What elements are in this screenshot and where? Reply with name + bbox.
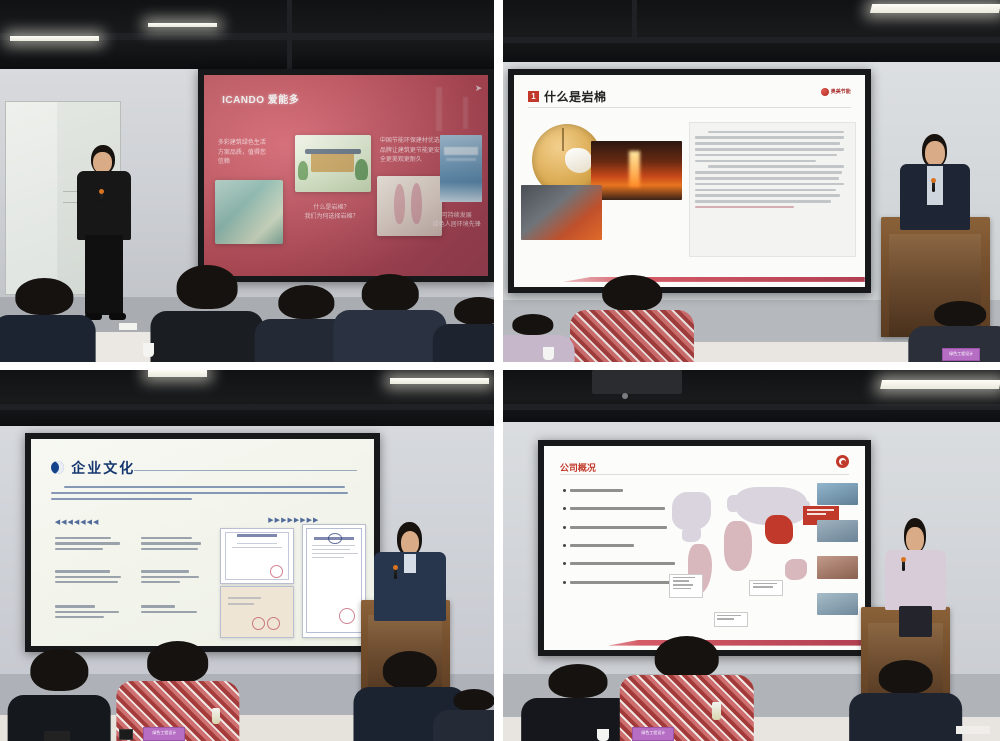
bullet-dot-icon <box>563 544 566 547</box>
audience-member <box>851 660 960 741</box>
bullet-text <box>570 489 623 492</box>
culture-column-1 <box>55 534 124 553</box>
certificate-3 <box>302 524 366 638</box>
ceiling <box>0 0 494 69</box>
paper-sheet[interactable] <box>956 726 990 734</box>
slide-intro-paragraph <box>51 483 357 504</box>
audience-member <box>435 689 494 741</box>
slide-text-block: 多彩建筑绿色生活方案品质，值得您信赖 <box>218 139 281 167</box>
audience-member <box>523 667 632 741</box>
speaker-blouse <box>885 550 946 610</box>
culture-column-4 <box>141 534 206 553</box>
slide-title-row: 企业文化 <box>51 458 135 478</box>
bullet-dot-icon <box>563 526 566 529</box>
bullet-text <box>570 507 665 510</box>
title-divider <box>134 470 357 471</box>
brand-dot-icon <box>821 88 829 96</box>
speaker-face <box>93 152 112 173</box>
slide-image-bluebook <box>440 135 483 202</box>
slide-heading: 什么是岩棉 <box>544 88 607 105</box>
slide-image-wool <box>377 176 442 236</box>
thumbnail-1 <box>817 483 859 505</box>
map-central-america <box>682 527 701 542</box>
decor-tower <box>463 97 468 129</box>
ceiling-light <box>880 380 1000 389</box>
slide-text-block: 可持续发展绿色人居环境先锋 <box>431 212 482 231</box>
projection-screen[interactable]: 公司概况 <box>544 446 865 649</box>
ceiling-beam <box>0 404 494 410</box>
ceiling <box>503 0 1000 62</box>
paper-cup[interactable] <box>143 343 154 357</box>
collage-panel-top-right[interactable]: 1 什么是岩棉 奥美节能 <box>503 0 1000 362</box>
collage-panel-bottom-left[interactable]: 企业文化 ◀◀◀◀◀◀◀ ▶▶▶▶▶▶▶▶ <box>0 370 494 741</box>
bullet-text <box>570 562 675 565</box>
slide-title-row: 1 什么是岩棉 <box>528 88 607 105</box>
projector <box>592 370 681 394</box>
map-callout-americas <box>669 574 703 598</box>
map-callout-africa <box>749 580 783 597</box>
bullet-4 <box>563 544 666 547</box>
brand-name: 奥美节能 <box>831 88 851 95</box>
slide-heading: 公司概况 <box>560 461 596 474</box>
figure-lava-pour <box>521 185 602 240</box>
bullet-1 <box>563 489 666 492</box>
thumbnail-3 <box>817 556 859 578</box>
bullet-dot-icon <box>563 507 566 510</box>
ceiling-beam <box>503 404 1000 410</box>
audience-member <box>0 281 94 362</box>
table-nameplate: 绿色工程设计 <box>632 727 674 741</box>
slide-what-is-rockwool: 1 什么是岩棉 奥美节能 <box>514 75 865 287</box>
certificate-1 <box>220 528 294 584</box>
bullet-3 <box>563 526 679 529</box>
projection-screen-frame[interactable]: 企业文化 ◀◀◀◀◀◀◀ ▶▶▶▶▶▶▶▶ <box>25 433 381 652</box>
bullet-2 <box>563 507 679 510</box>
slide-image-building <box>295 135 372 191</box>
paper-cup[interactable] <box>543 347 554 360</box>
device[interactable] <box>119 729 133 740</box>
culture-column-3 <box>55 602 124 621</box>
audience-member <box>336 276 445 362</box>
ceiling-light <box>148 370 207 377</box>
audience-member <box>622 634 751 741</box>
microphone-icon <box>932 181 935 192</box>
ceiling <box>503 370 1000 422</box>
icando-logo: ICANDO 爱能多 <box>222 91 299 106</box>
ceiling <box>0 370 494 426</box>
collage-panel-bottom-right[interactable]: 公司概况 <box>503 370 1000 741</box>
nameplate-text: 绿色工程设计 <box>144 728 184 737</box>
audience-area: 绿色工程设计 <box>503 261 1000 362</box>
microphone-icon <box>394 568 397 579</box>
slide-heading: 企业文化 <box>71 458 135 478</box>
ceiling-beam <box>287 0 292 69</box>
speaker-torso <box>77 171 131 241</box>
map-africa <box>724 521 753 571</box>
projection-screen[interactable]: 企业文化 ◀◀◀◀◀◀◀ ▶▶▶▶▶▶▶▶ <box>31 439 375 646</box>
audience-member <box>10 656 109 741</box>
chevrons-left: ◀◀◀◀◀◀◀ <box>55 518 100 526</box>
culture-column-6 <box>141 602 206 615</box>
brand-logo: 奥美节能 <box>821 88 851 96</box>
decor-tower <box>436 87 442 131</box>
half-moon-icon <box>51 461 64 474</box>
bullet-dot-icon <box>563 581 566 584</box>
collage-panel-top-left[interactable]: ICANDO 爱能多 多彩建筑绿色生活方案品质，值得您信赖 什么是岩棉？我们为何… <box>0 0 494 362</box>
map-north-america <box>672 492 711 530</box>
ceiling-light <box>870 4 1000 13</box>
speaker-shirt <box>927 166 943 206</box>
table-nameplate: 绿色工程设计 <box>143 727 185 741</box>
title-divider <box>528 107 851 108</box>
audience-area: 绿色工程设计 <box>503 622 1000 741</box>
table-nameplate: 绿色工程设计 <box>942 348 980 361</box>
speaker-bottom-left[interactable] <box>371 522 450 618</box>
slide-image-fiber <box>215 180 283 245</box>
audience-member <box>153 271 262 362</box>
nameplate-text: 绿色工程设计 <box>633 728 673 737</box>
decor-bird-icon: ➤ <box>475 83 483 94</box>
culture-column-2 <box>55 567 124 586</box>
microphone-icon <box>100 192 103 203</box>
ceiling-light <box>10 36 99 41</box>
projection-screen[interactable]: 1 什么是岩棉 奥美节能 <box>514 75 865 287</box>
section-number-badge: 1 <box>528 91 539 102</box>
microphone-icon <box>902 560 905 571</box>
slide-company-overview: 公司概况 <box>544 446 865 649</box>
laptop[interactable] <box>44 731 70 741</box>
slide-text-block: 中国节能环保建材优选品牌让建筑更节能更安全更美观更耐久 <box>380 137 448 165</box>
projector-lens <box>622 393 628 399</box>
figure-volcano <box>591 141 682 200</box>
audience-area: 绿色工程设计 <box>0 622 494 741</box>
thumbnail-2 <box>817 520 859 542</box>
paper-sheet[interactable] <box>119 323 137 330</box>
speaker-face <box>906 527 923 552</box>
water-bottle[interactable] <box>712 702 721 720</box>
ceiling-light <box>390 378 489 384</box>
culture-column-5 <box>141 567 206 586</box>
thumbnail-4 <box>817 593 859 615</box>
water-bottle[interactable] <box>212 708 220 724</box>
speaker-collar <box>404 554 417 573</box>
photo-collage: ICANDO 爱能多 多彩建筑绿色生活方案品质，值得您信赖 什么是岩棉？我们为何… <box>0 0 1000 741</box>
audience-area <box>0 239 494 362</box>
audience-member <box>435 298 494 362</box>
bullet-text <box>570 544 634 547</box>
speaker-top-right[interactable] <box>896 134 976 228</box>
map-australia <box>785 559 807 579</box>
bullet-text <box>570 526 667 529</box>
nameplate-text: 绿色工程设计 <box>943 349 979 358</box>
projection-screen-frame[interactable]: 1 什么是岩棉 奥美节能 <box>508 69 871 293</box>
speaker-bottom-right[interactable] <box>881 518 951 622</box>
speaker-face <box>925 141 945 165</box>
slide-text-block: 什么是岩棉？我们为何选择岩棉？ <box>297 204 365 223</box>
ceiling-light <box>148 23 217 27</box>
world-map <box>666 483 826 629</box>
chevrons-right: ▶▶▶▶▶▶▶▶ <box>268 516 319 524</box>
title-divider <box>560 474 849 475</box>
ceiling-beam <box>632 0 637 38</box>
ceiling-beam <box>503 37 1000 43</box>
slide-body-paragraph <box>689 122 855 257</box>
audience-member <box>573 275 692 362</box>
map-china-highlight <box>765 515 792 544</box>
bullet-dot-icon <box>563 562 566 565</box>
paper-cup[interactable] <box>597 729 609 741</box>
slide-corporate-culture: 企业文化 ◀◀◀◀◀◀◀ ▶▶▶▶▶▶▶▶ <box>31 439 375 646</box>
audience-member <box>503 315 573 362</box>
brand-ring-logo-icon <box>836 455 849 468</box>
bullet-dot-icon <box>563 489 566 492</box>
